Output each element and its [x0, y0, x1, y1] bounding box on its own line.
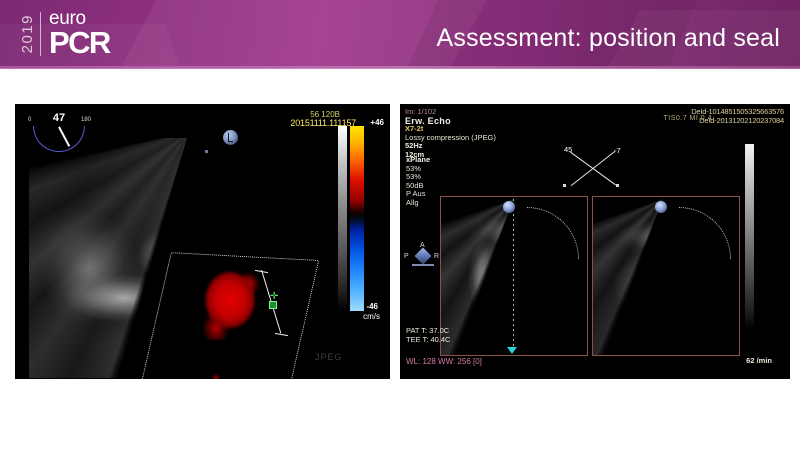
xplane-angle-indicator: 45 -7 [560, 146, 626, 192]
biplane-scan-line [513, 199, 514, 349]
probe-orientation-icon [223, 130, 238, 145]
xplane-angle-primary: 45 [564, 145, 572, 154]
xplane-angle-secondary: -7 [614, 146, 621, 155]
marker-square-icon [205, 150, 208, 153]
preset-label: Allg [406, 199, 430, 208]
thermal-index-label: TIS0.7 MI 0.4 [663, 115, 712, 122]
ultrasound-fan-right [593, 197, 739, 355]
right-echo-info-block: Im: 1/102 Erw. Echo X7-2t Lossy compress… [405, 108, 496, 159]
angle-dial-max-label: 180 [81, 117, 91, 123]
anatomical-orientation-icon: P R A [404, 242, 442, 274]
angle-dial-min-label: 0 [28, 117, 31, 123]
logo-wordmark: euro PCR [49, 10, 110, 58]
biplane-apex-probe-right [655, 201, 667, 213]
colorbar-unit-label: cm/s [363, 312, 380, 321]
biplane-apex-probe-left [503, 201, 515, 213]
europcr-logo: 2019 euro PCR [20, 6, 110, 62]
regurgitant-jet-red [200, 270, 262, 340]
caliper-tick-bottom [275, 333, 288, 336]
angle-dial-value: 47 [33, 112, 85, 124]
doppler-colorbar [338, 126, 368, 311]
right-echo-settings-block: xPlane 53% 53% 50dB P Aus Allg [406, 156, 430, 207]
xplane-dot-left [563, 184, 566, 187]
logo-pcr-text: PCR [49, 28, 110, 58]
jpeg-watermark: JPEG [315, 352, 343, 362]
patient-temperature-label: PAT T: 37.0C [406, 326, 449, 335]
orientation-posterior-label: P [404, 253, 409, 260]
ultrasound-fan-left [441, 197, 587, 355]
orientation-anterior-label: A [420, 242, 425, 249]
biplane-cyan-marker [507, 347, 517, 354]
caliper-cross-icon: ✛ [270, 292, 279, 301]
slide-root: 2019 euro PCR Assessment: position and s… [0, 0, 800, 450]
biplane-view-left [440, 196, 588, 356]
velocity-color-bar [350, 126, 364, 311]
colorbar-min-label: -46 [366, 302, 378, 311]
tee-probe-temperature-label: TEE T: 40.4C [406, 335, 450, 344]
slide-header: 2019 euro PCR Assessment: position and s… [0, 0, 800, 68]
caliper-green-marker [269, 301, 277, 309]
heart-rate-label: 62 /min [746, 356, 772, 365]
orientation-base-line [412, 264, 434, 266]
right-echo-panel: Im: 1/102 Erw. Echo X7-2t Lossy compress… [400, 104, 790, 379]
biplane-view-right [592, 196, 740, 356]
orientation-diamond [415, 248, 432, 265]
measurement-caliper: ✛ [255, 270, 311, 340]
orientation-right-label: R [434, 253, 439, 260]
header-accent-line [0, 66, 800, 69]
grayscale-bar [338, 126, 347, 311]
transducer-angle-dial [33, 126, 85, 156]
logo-divider [40, 12, 41, 56]
regurgitant-jet-tail [211, 372, 221, 379]
xplane-dot-right [616, 184, 619, 187]
colorbar-max-label: +46 [370, 118, 384, 127]
right-grayscale-bar [745, 144, 754, 329]
logo-year: 2019 [20, 14, 35, 53]
window-level-label: WL: 128 WW: 256 [0] [406, 357, 482, 366]
left-echo-panel: ✛ 47 0 180 56 120B 20151111.111157 +46 -… [15, 104, 390, 379]
page-title: Assessment: position and seal [437, 24, 780, 53]
